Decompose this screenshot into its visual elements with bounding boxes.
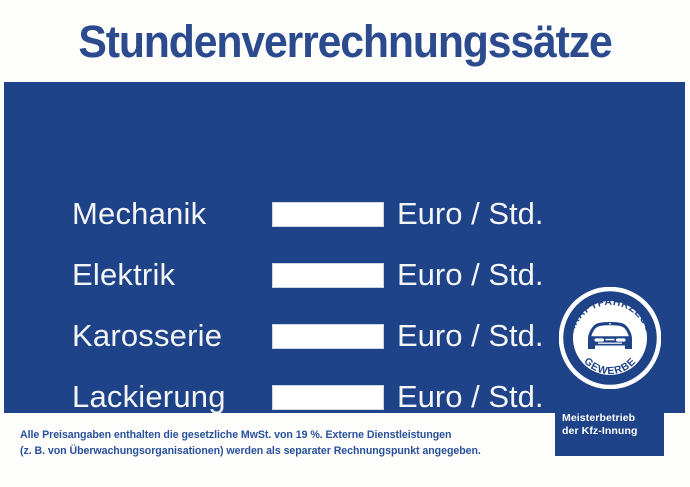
rate-row-input[interactable] [272, 263, 384, 288]
rate-row-input[interactable] [272, 385, 384, 410]
rate-row: Mechanik Euro / Std. [4, 194, 685, 234]
badge-caption: Meisterbetrieb der Kfz-Innung [562, 412, 670, 438]
rate-row-label: Elektrik [72, 255, 175, 295]
rate-row-label: Mechanik [72, 194, 206, 234]
page-title: Stundenverrechnungssätze [17, 16, 673, 68]
rate-row-unit: Euro / Std. [397, 255, 543, 295]
rate-row-unit: Euro / Std. [397, 316, 543, 356]
rate-row-input[interactable] [272, 324, 384, 349]
kfz-gewerbe-badge: KRAFTFAHRZEUG GEWERBE [559, 287, 661, 389]
badge-caption-line2: der Kfz-Innung [562, 425, 670, 438]
rate-row-unit: Euro / Std. [397, 377, 543, 417]
footer-disclaimer: Alle Preisangaben enthalten die gesetzli… [20, 428, 560, 459]
footer-line-1: Alle Preisangaben enthalten die gesetzli… [20, 428, 560, 444]
badge-caption-line1: Meisterbetrieb [562, 412, 670, 425]
rate-poster: Stundenverrechnungssätze Mechanik Euro /… [0, 0, 690, 487]
rate-row-label: Lackierung [72, 377, 226, 417]
car-front-icon [588, 322, 632, 349]
badge-svg: KRAFTFAHRZEUG GEWERBE [559, 287, 661, 389]
rate-row-input[interactable] [272, 202, 384, 227]
rate-row-unit: Euro / Std. [397, 194, 543, 234]
footer-line-2: (z. B. von Überwachungsorganisationen) w… [20, 444, 560, 460]
rate-row-label: Karosserie [72, 316, 222, 356]
